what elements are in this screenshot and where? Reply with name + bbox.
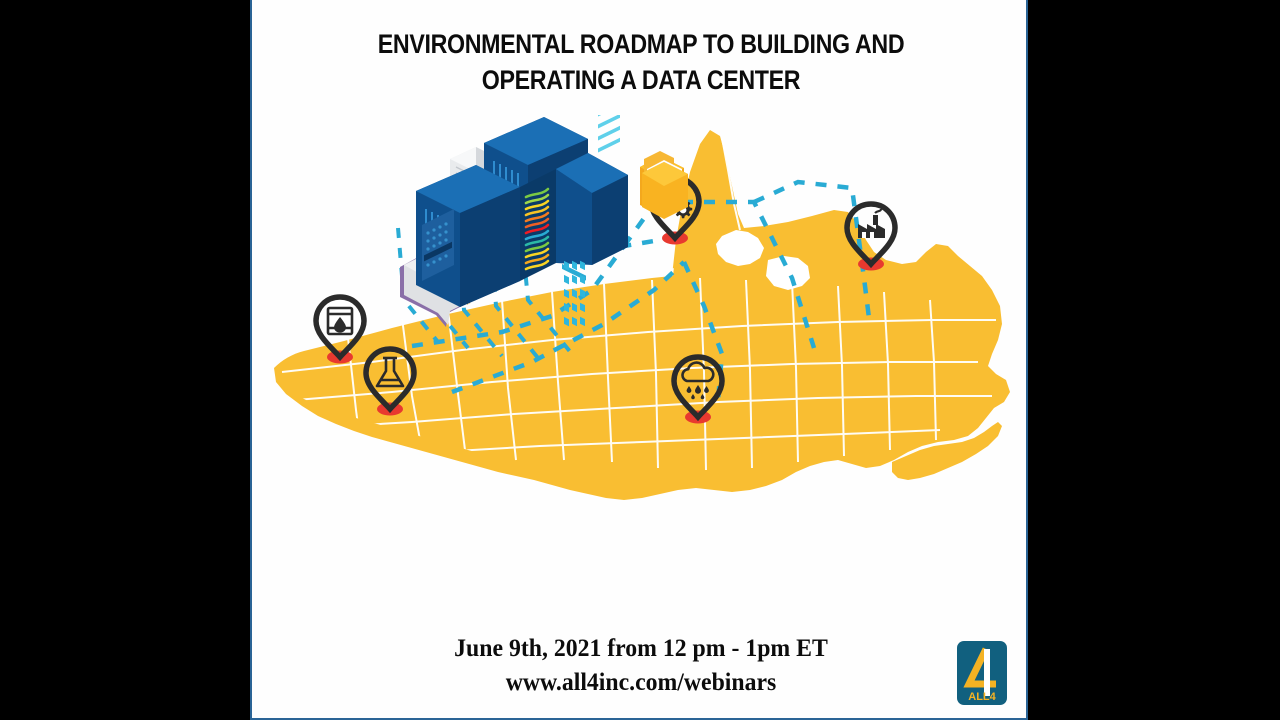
logo-wordmark: ALL4 <box>968 691 996 703</box>
all4-logo[interactable]: ALL4 <box>956 640 1008 706</box>
folder-icon <box>640 151 688 219</box>
factory-icon <box>858 209 885 238</box>
page-title-line2: OPERATING A DATA CENTER <box>306 62 975 98</box>
footer: June 9th, 2021 from 12 pm - 1pm ET www.a… <box>252 632 1028 700</box>
oil-drum-icon <box>328 308 352 334</box>
letterbox-right <box>1028 0 1280 720</box>
letterbox-left <box>0 0 250 720</box>
presentation-slide: ENVIRONMENTAL ROADMAP TO BUILDING AND OP… <box>250 0 1028 720</box>
page-title-line1: ENVIRONMENTAL ROADMAP TO BUILDING AND <box>378 29 905 59</box>
isometric-data-center <box>392 115 712 345</box>
page-title: ENVIRONMENTAL ROADMAP TO BUILDING AND OP… <box>306 26 975 98</box>
slide-stage: ENVIRONMENTAL ROADMAP TO BUILDING AND OP… <box>0 0 1280 720</box>
webinar-url: www.all4inc.com/webinars <box>271 666 1010 700</box>
server-rack-icon <box>416 115 628 326</box>
webinar-date: June 9th, 2021 from 12 pm - 1pm ET <box>271 632 1010 666</box>
